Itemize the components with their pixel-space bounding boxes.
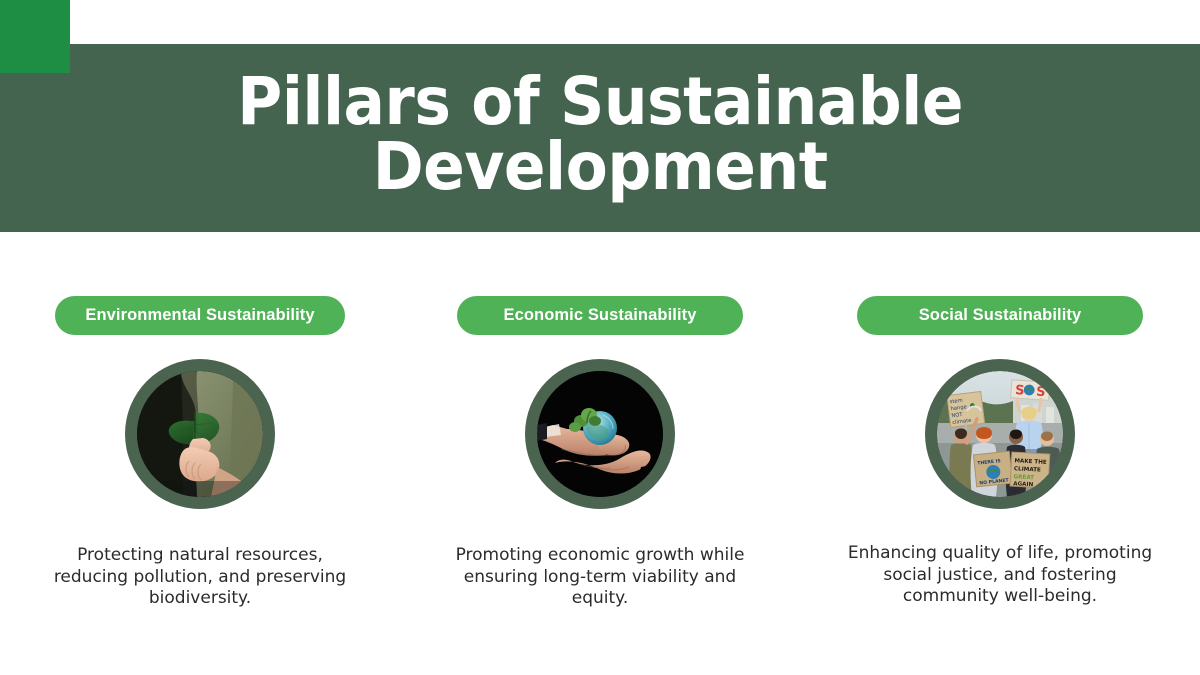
pillar-badge-environmental[interactable]: Environmental Sustainability xyxy=(55,296,345,335)
pillar-image-economic xyxy=(537,371,663,497)
pillar-card-environmental: Environmental Sustainability xyxy=(0,232,400,675)
pillar-caption-social: Enhancing quality of life, promoting soc… xyxy=(845,543,1155,608)
slide-canvas: Pillars of Sustainable Development Envir… xyxy=(0,0,1200,675)
pillar-card-social: Social Sustainability xyxy=(800,232,1200,675)
pillar-badge-social[interactable]: Social Sustainability xyxy=(857,296,1143,335)
pillars-row: Environmental Sustainability xyxy=(0,232,1200,675)
pillar-caption-economic: Promoting economic growth while ensuring… xyxy=(450,545,750,610)
svg-text:S: S xyxy=(1015,383,1025,399)
pillar-card-economic: Economic Sustainability xyxy=(400,232,800,675)
pillar-image-environmental xyxy=(137,371,263,497)
pillar-badge-economic[interactable]: Economic Sustainability xyxy=(457,296,743,335)
pillar-image-social: stem hange NOT climate xyxy=(937,371,1063,497)
pillar-image-ring-social: stem hange NOT climate xyxy=(925,359,1075,509)
page-title-text: Pillars of Sustainable Development xyxy=(237,70,963,199)
pillar-image-ring-economic xyxy=(525,359,675,509)
pillar-caption-environmental: Protecting natural resources, reducing p… xyxy=(45,545,355,610)
page-title: Pillars of Sustainable Development xyxy=(0,44,1200,232)
svg-text:GREAT: GREAT xyxy=(1013,474,1034,481)
svg-text:AGAIN: AGAIN xyxy=(1013,481,1034,488)
pillar-image-ring-environmental xyxy=(125,359,275,509)
